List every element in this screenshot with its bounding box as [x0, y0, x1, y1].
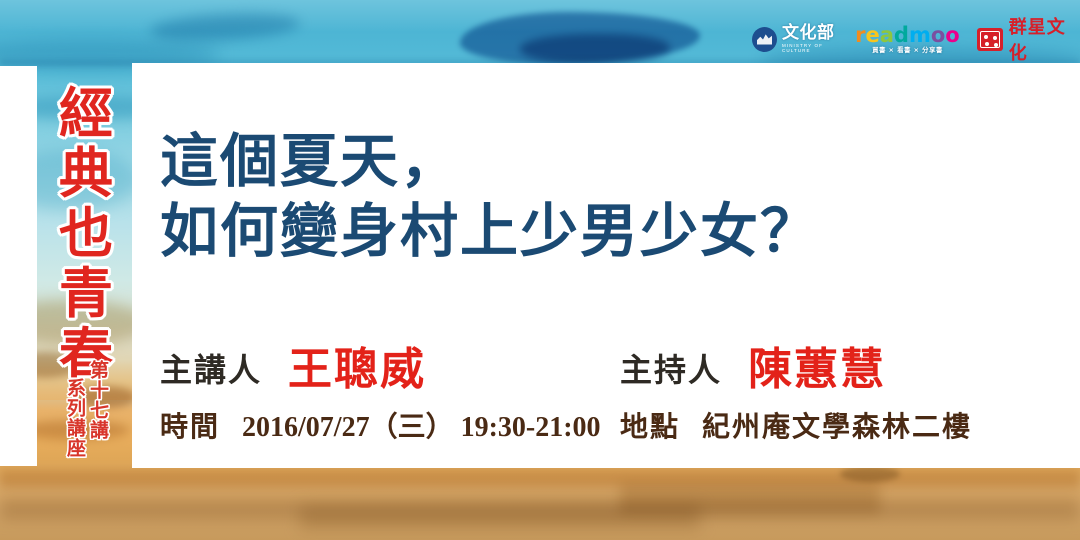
- wash-streak: [0, 470, 1080, 488]
- speaker-role-label: 主講人: [160, 345, 262, 391]
- readmoo-letter: o: [931, 25, 945, 45]
- series-title-char: 典: [59, 144, 113, 204]
- place-block: 地點 紀州庵文學森林二樓: [620, 405, 972, 445]
- series-episode-label: 第十七講: [87, 360, 108, 466]
- readmoo-letter: a: [880, 25, 894, 45]
- speaker-name: 王聰威: [288, 333, 426, 397]
- series-title-vertical: 經 典 也 青 春: [44, 84, 128, 384]
- series-subtitle-vertical: 第十七講 系列講座: [44, 360, 128, 466]
- place-value: 紀州庵文學森林二樓: [702, 405, 972, 445]
- readmoo-logo: r e a d m o o 買書 × 看書 × 分享書: [855, 25, 960, 54]
- headline-line-2: 如何變身村上少男少女？: [160, 198, 1040, 264]
- time-label: 時間: [160, 405, 220, 445]
- readmoo-letter: o: [945, 25, 959, 45]
- chun-shin-culture-cn: 群星文化: [1009, 13, 1068, 65]
- readmoo-letter: m: [909, 25, 931, 45]
- ministry-of-culture-cn: 文化部: [782, 25, 838, 42]
- people-row: 主講人 王聰威 主持人 陳蕙慧: [160, 330, 1040, 390]
- speaker-block: 主講人 王聰威: [160, 330, 426, 394]
- chun-shin-culture-logo: 群星文化: [977, 13, 1068, 65]
- readmoo-letter: r: [855, 25, 865, 45]
- series-title-char: 也: [59, 204, 113, 264]
- wash-blot: [840, 466, 900, 482]
- ministry-of-culture-en: MINISTRY OF CULTURE: [782, 44, 838, 53]
- page-title: 這個夏天， 如何變身村上少男少女？: [160, 128, 1040, 264]
- place-label: 地點: [620, 405, 680, 445]
- time-block: 時間 2016/07/27（三） 19:30-21:00: [160, 405, 601, 445]
- series-kind-label: 系列講座: [64, 378, 85, 466]
- time-value: 2016/07/27（三） 19:30-21:00: [242, 405, 601, 445]
- ministry-of-culture-wordmark: 文化部 MINISTRY OF CULTURE: [782, 25, 838, 53]
- ministry-of-culture-mark-icon: [752, 27, 777, 52]
- host-name: 陳蕙慧: [748, 333, 886, 397]
- readmoo-tagline: 買書 × 看書 × 分享書: [872, 47, 943, 54]
- headline-line-1: 這個夏天，: [160, 128, 1040, 194]
- event-poster: 文化部 MINISTRY OF CULTURE r e a d m o o 買書…: [0, 0, 1080, 540]
- readmoo-letter: d: [894, 25, 909, 45]
- series-title-char: 青: [59, 264, 113, 324]
- host-block: 主持人 陳蕙慧: [620, 330, 886, 394]
- left-white-strip: [0, 66, 37, 466]
- ministry-of-culture-logo: 文化部 MINISTRY OF CULTURE: [752, 25, 838, 53]
- chun-shin-book-icon: [977, 28, 1003, 51]
- details-row: 時間 2016/07/27（三） 19:30-21:00 地點 紀州庵文學森林二…: [160, 405, 1060, 445]
- readmoo-letter: e: [865, 25, 879, 45]
- sponsor-logo-row: 文化部 MINISTRY OF CULTURE r e a d m o o 買書…: [752, 18, 1068, 60]
- host-role-label: 主持人: [620, 345, 722, 391]
- readmoo-wordmark: r e a d m o o: [855, 25, 960, 45]
- wash-streak: [300, 505, 700, 529]
- series-title-char: 經: [59, 84, 113, 144]
